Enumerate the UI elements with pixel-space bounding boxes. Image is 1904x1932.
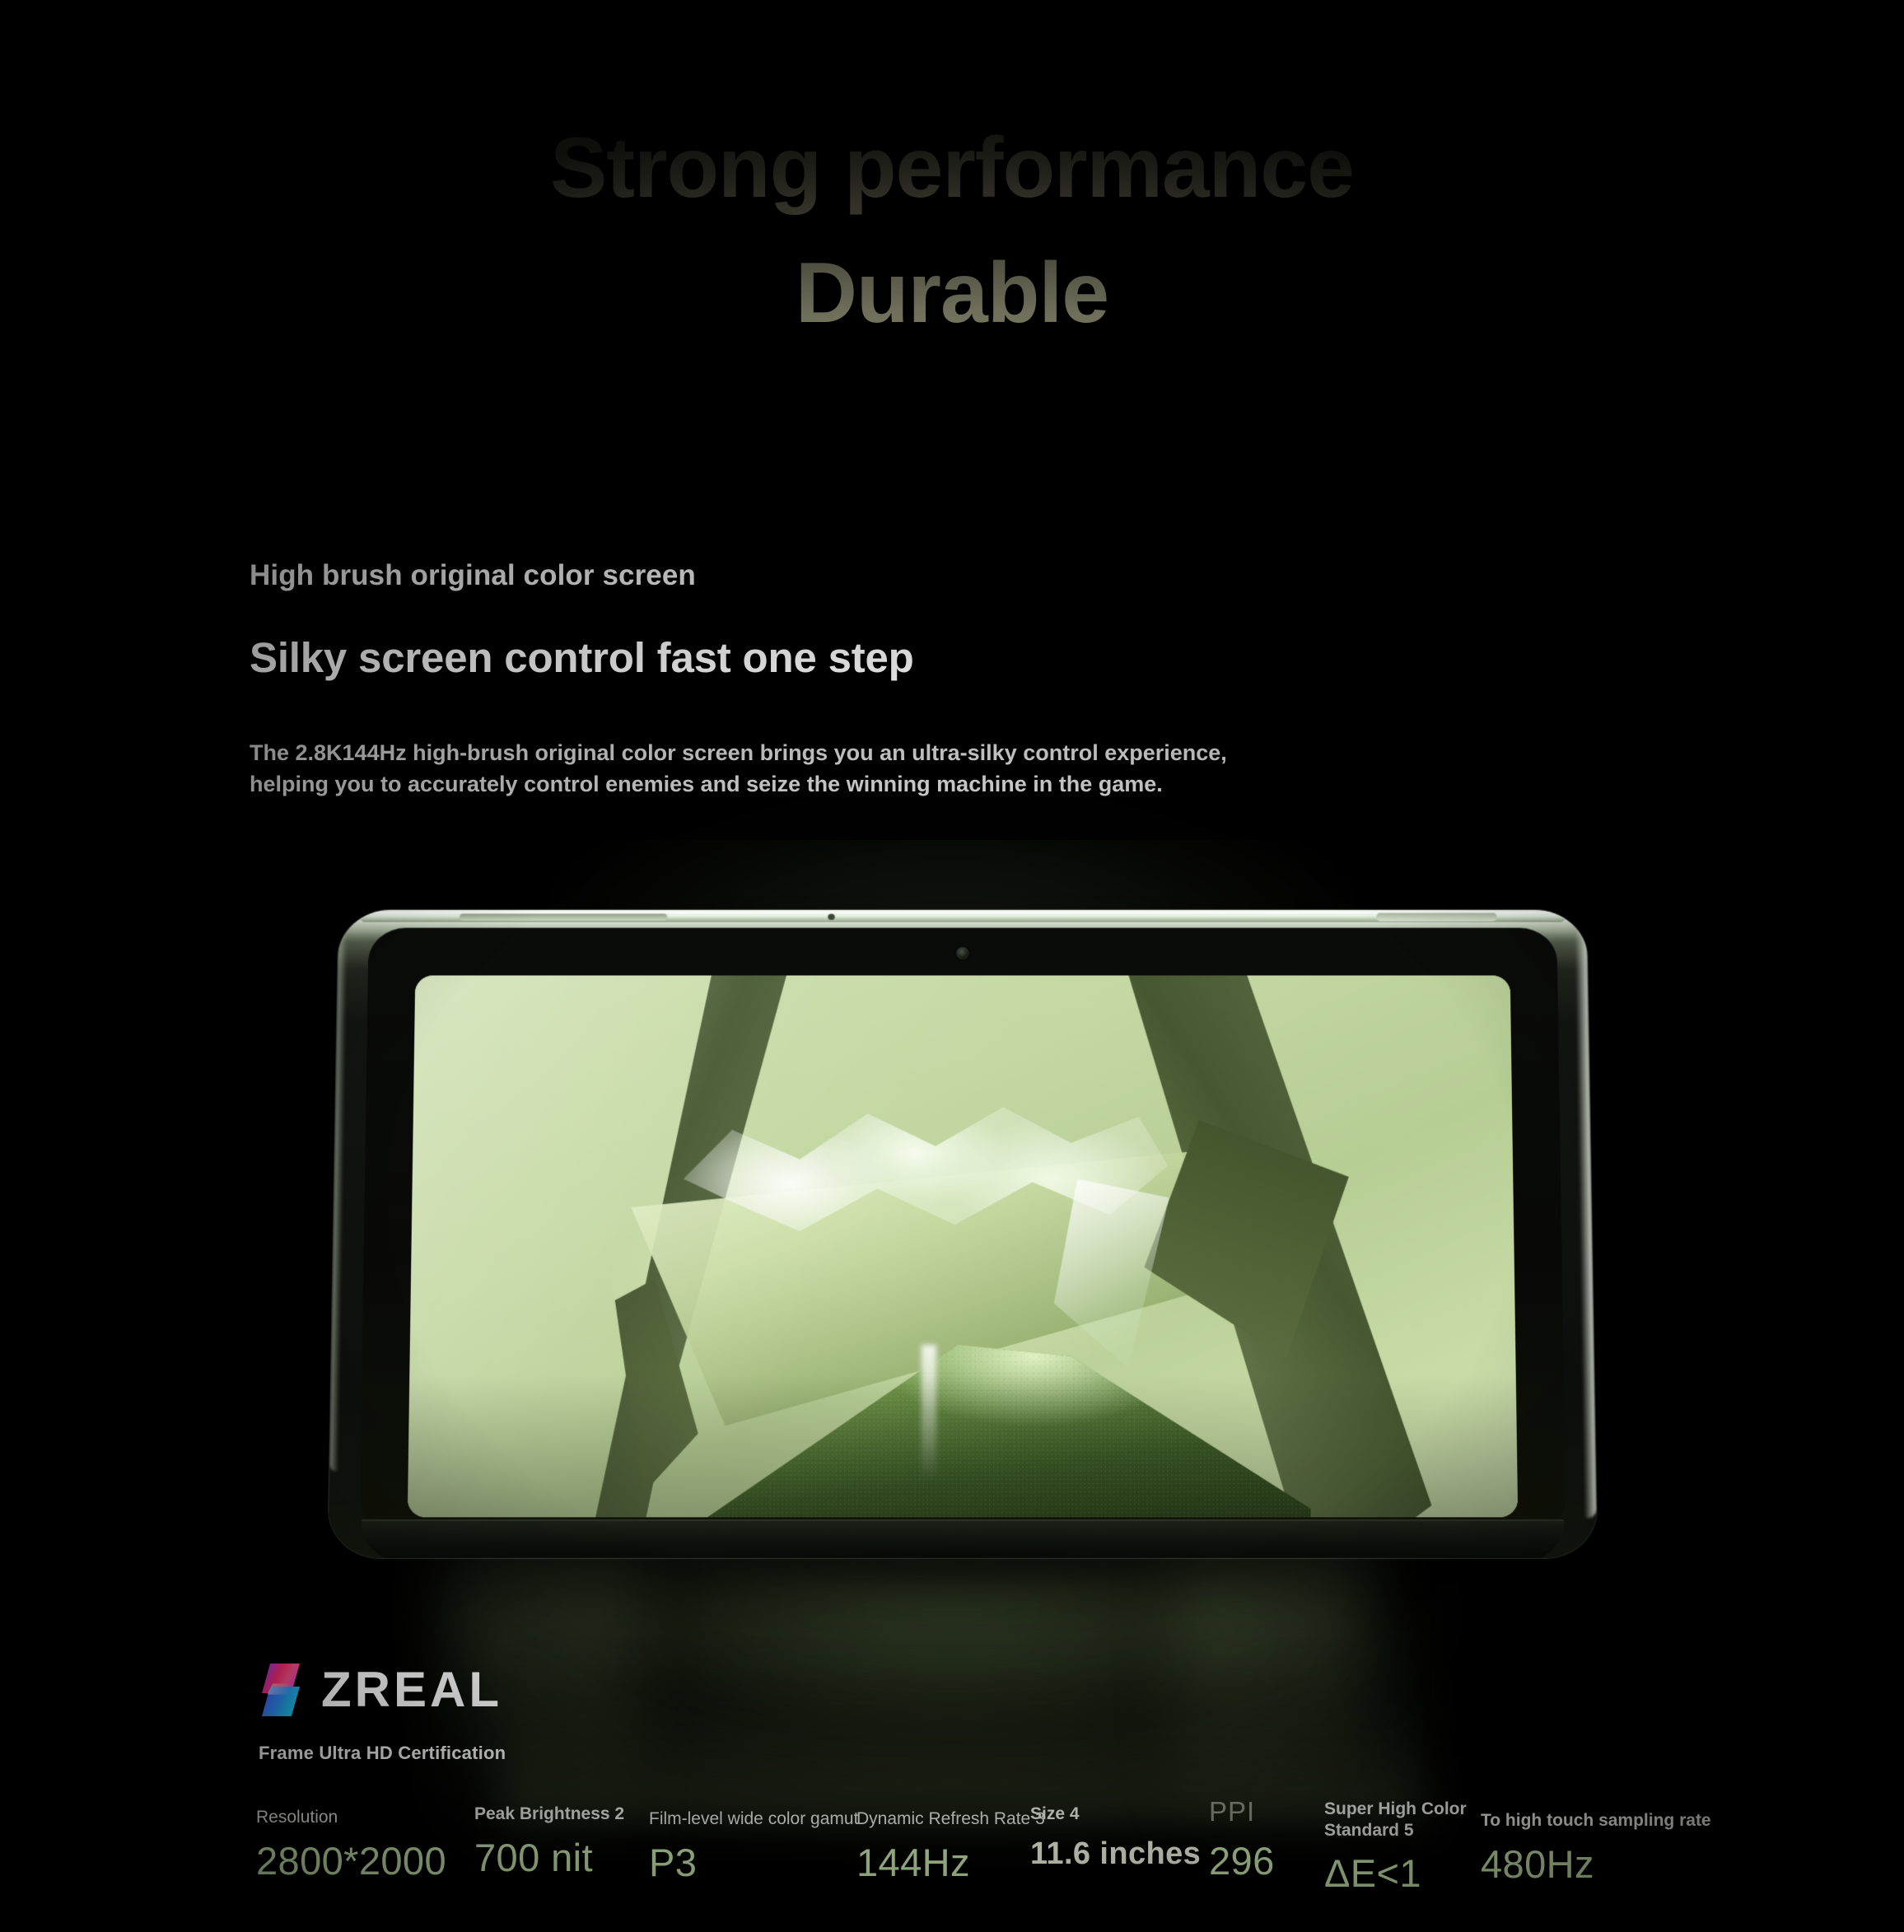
microphone-pinhole (828, 914, 835, 920)
screen-bezel (359, 928, 1566, 1535)
tablet-frame (328, 910, 1597, 1558)
hero-line-2: Durable (0, 211, 1904, 336)
spec-value: 296 (1209, 1841, 1275, 1880)
spec-item-color-gamut: Film-level wide color gamut P3 (649, 1808, 858, 1882)
spec-item-peak-brightness: Peak Brightness 2 700 nit (474, 1804, 624, 1877)
wallpaper-mountain (681, 1345, 1311, 1517)
spec-label-line-1: Super High Color (1324, 1799, 1467, 1820)
spec-strip: Resolution 2800*2000 Peak Brightness 2 7… (0, 1797, 1904, 1904)
spec-value: 700 nit (474, 1838, 624, 1877)
tablet-device (333, 906, 1593, 1647)
device-floor-reflection (499, 1571, 1426, 1823)
spec-item-size: Size 4 11.6 inches (1030, 1804, 1201, 1869)
spec-value: P3 (649, 1843, 858, 1882)
brand-row: ZREAL (259, 1664, 506, 1716)
frame-left-rim (329, 931, 348, 1471)
hero-heading: Strong performance Durable (0, 0, 1904, 336)
product-page: Strong performance Durable High brush or… (0, 0, 1904, 1932)
front-camera-icon (957, 947, 969, 959)
wallpaper-blade-left-lower (516, 1322, 683, 1518)
spec-item-refresh-rate: Dynamic Refresh Rate 3 144Hz (856, 1808, 1045, 1882)
wallpaper (408, 975, 1518, 1517)
spec-label-line-2: Standard 5 (1324, 1820, 1467, 1841)
tablet-body-wrap (327, 910, 1599, 1650)
spec-label: PPI (1209, 1795, 1275, 1828)
brand-lockup: ZREAL Frame Ultra HD Certification (259, 1664, 506, 1764)
spec-item-ppi: PPI 296 (1209, 1795, 1275, 1880)
spec-label: Resolution (256, 1807, 446, 1828)
spec-value: 11.6 inches (1030, 1838, 1201, 1869)
spec-value: ΔE<1 (1324, 1854, 1467, 1892)
spec-value: 144Hz (856, 1843, 1045, 1882)
zreal-logo-icon (259, 1664, 303, 1716)
wallpaper-slab-edge-left (614, 1279, 862, 1494)
feature-copy-block: High brush original color screen Silky s… (250, 558, 1279, 800)
feature-description: The 2.8K144Hz high-brush original color … (250, 737, 1230, 800)
spec-label: Peak Brightness 2 (474, 1804, 624, 1825)
speaker-grille (460, 913, 668, 921)
power-button[interactable] (1376, 912, 1497, 922)
tablet-screen[interactable] (408, 975, 1518, 1517)
brand-name: ZREAL (321, 1665, 502, 1715)
brand-certification-label: Frame Ultra HD Certification (259, 1743, 506, 1764)
wallpaper-mountain-texture (681, 1345, 1311, 1517)
spec-item-resolution: Resolution 2800*2000 (256, 1807, 446, 1880)
tablet-bottom-chin (362, 1519, 1565, 1558)
spec-item-color-standard: Super High Color Standard 5 ΔE<1 (1324, 1799, 1467, 1892)
feature-eyebrow: High brush original color screen (250, 558, 1279, 593)
spec-label: Size 4 (1030, 1804, 1201, 1825)
feature-subhead: Silky screen control fast one step (250, 634, 1279, 683)
spec-item-touch-sampling: To high touch sampling rate 480Hz (1481, 1810, 1711, 1883)
spec-value: 480Hz (1481, 1845, 1711, 1883)
spec-label: To high touch sampling rate (1481, 1810, 1711, 1832)
spec-label: Dynamic Refresh Rate 3 (856, 1808, 1045, 1830)
hero-line-1: Strong performance (0, 0, 1904, 211)
spec-label: Film-level wide color gamut (649, 1808, 858, 1830)
wallpaper-mountain-ridge (922, 1345, 936, 1517)
spec-value: 2800*2000 (256, 1841, 446, 1880)
